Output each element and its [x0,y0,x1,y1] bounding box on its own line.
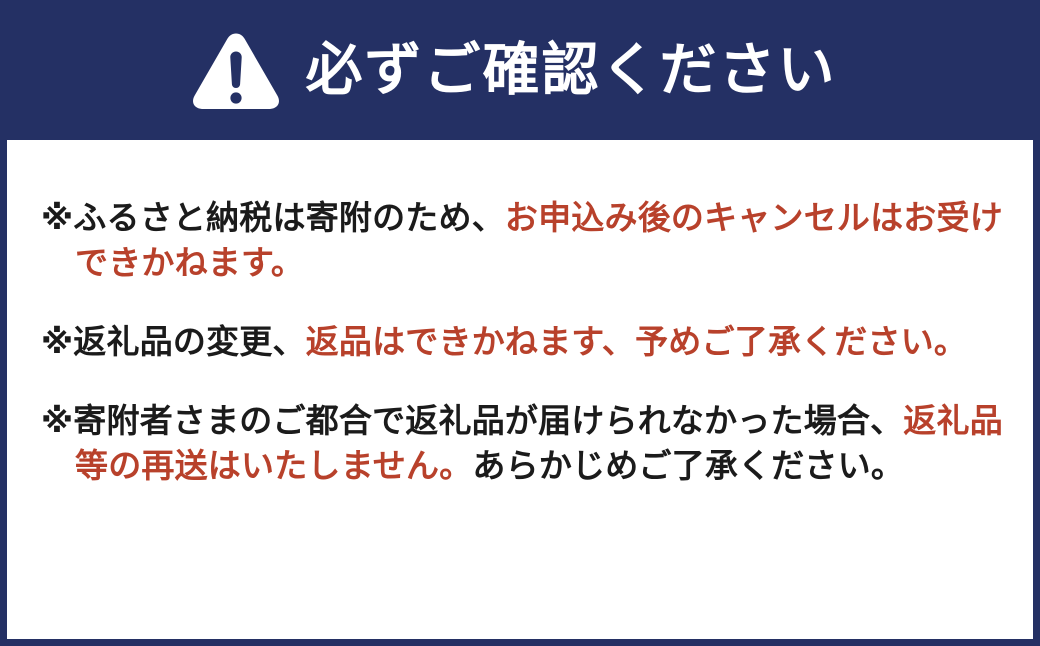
notice-segment-dark-trailing: あらかじめご了承ください。 [472,447,904,484]
notice-segment-emphasis: 返品はできかねます、予めご了承ください。 [306,323,967,360]
notice-marker: ※ [41,323,73,360]
notice-header: 必ずご確認ください [0,0,1040,140]
notice-marker: ※ [41,199,73,236]
warning-triangle-icon [192,31,280,109]
list-item: ※返礼品の変更、返品はできかねます、予めご了承ください。 [41,320,1009,365]
page-title: 必ずご確認ください [306,42,837,99]
notice-segment-dark: 寄附者さまのご都合で返礼品が届けられなかった場合、 [73,402,903,439]
header-inner: 必ずご確認ください [192,31,837,109]
notice-segment-dark: ふるさと納税は寄附のため、 [73,199,505,236]
notice-marker: ※ [41,402,73,439]
list-item: ※寄附者さまのご都合で返礼品が届けられなかった場合、返礼品等の再送はいたしません… [41,399,1009,489]
list-item: ※ふるさと納税は寄附のため、お申込み後のキャンセルはお受けできかねます。 [41,196,1009,286]
notice-segment-dark: 返礼品の変更、 [73,323,305,360]
notice-card: 必ずご確認ください ※ふるさと納税は寄附のため、お申込み後のキャンセルはお受けで… [0,0,1040,646]
notice-list: ※ふるさと納税は寄附のため、お申込み後のキャンセルはお受けできかねます。 ※返礼… [41,196,1009,488]
notice-body: ※ふるさと納税は寄附のため、お申込み後のキャンセルはお受けできかねます。 ※返礼… [7,140,1033,639]
